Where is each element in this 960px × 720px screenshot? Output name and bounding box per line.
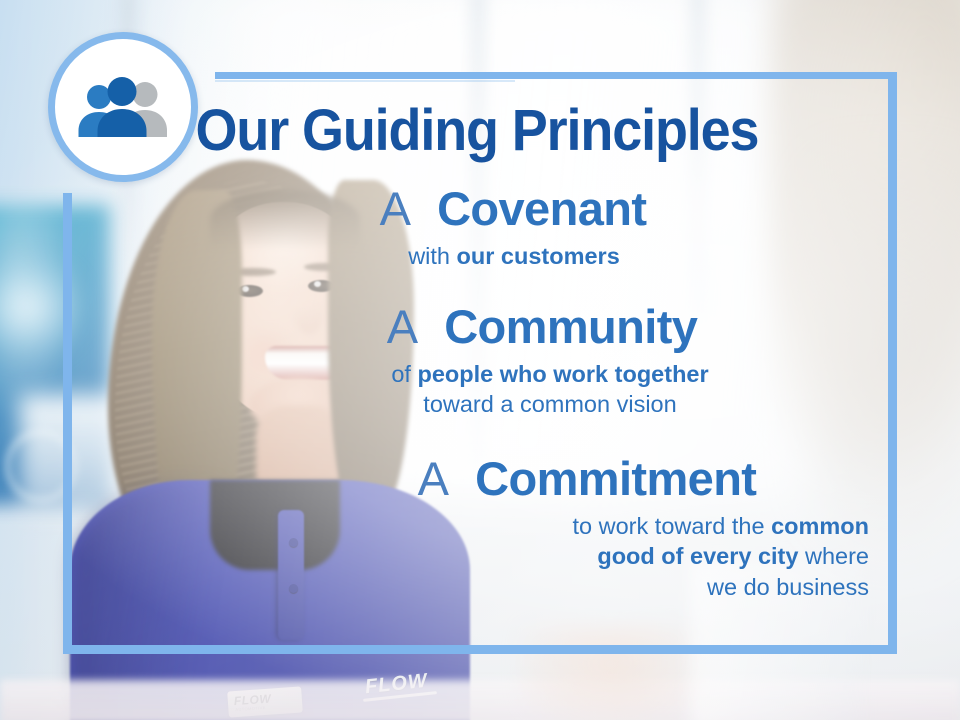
principle-heading: A Covenant [63,185,897,234]
text-run-bold: common [771,513,869,539]
principle-body-line: of people who work together [203,359,897,389]
principle-article: A [380,182,424,235]
principle-body: to work toward the common good of every … [63,511,897,603]
text-run: we do business [707,574,869,600]
principle-heading: A Community [63,303,897,352]
principle-article: A [418,452,462,505]
principle-body-line: toward a common vision [203,389,897,419]
principle-body-line: with our customers [131,241,897,271]
principle-keyword: Covenant [437,182,646,235]
principle-body-line: to work toward the common [63,511,869,542]
principle-block-covenant: A Covenant with our customers [63,185,897,271]
text-content: Our Guiding Principles A Covenant with o… [63,72,897,654]
principle-block-commitment: A Commitment to work toward the common g… [63,455,897,603]
principle-body-line: good of every city where [63,541,869,572]
principle-block-community: A Community of people who work together … [63,303,897,419]
principle-heading: A Commitment [63,455,897,504]
principle-body: of people who work together toward a com… [63,359,897,419]
principle-body-line: we do business [63,572,869,603]
text-run: with [408,243,456,269]
text-run: where [798,543,869,569]
principle-article: A [387,300,431,353]
guiding-principles-graphic: FLOW AUTOMOTIVE FLOW [0,0,960,720]
page-title: Our Guiding Principles [92,102,862,160]
principle-body: with our customers [63,241,897,271]
text-run: toward a common vision [423,391,676,417]
principle-keyword: Commitment [475,452,756,505]
text-run: to work toward the [573,513,772,539]
text-run-bold: our customers [457,243,620,269]
text-run: of [391,361,417,387]
principle-keyword: Community [444,300,697,353]
text-run-bold: good of every city [597,543,798,569]
text-run-bold: people who work together [417,361,708,387]
